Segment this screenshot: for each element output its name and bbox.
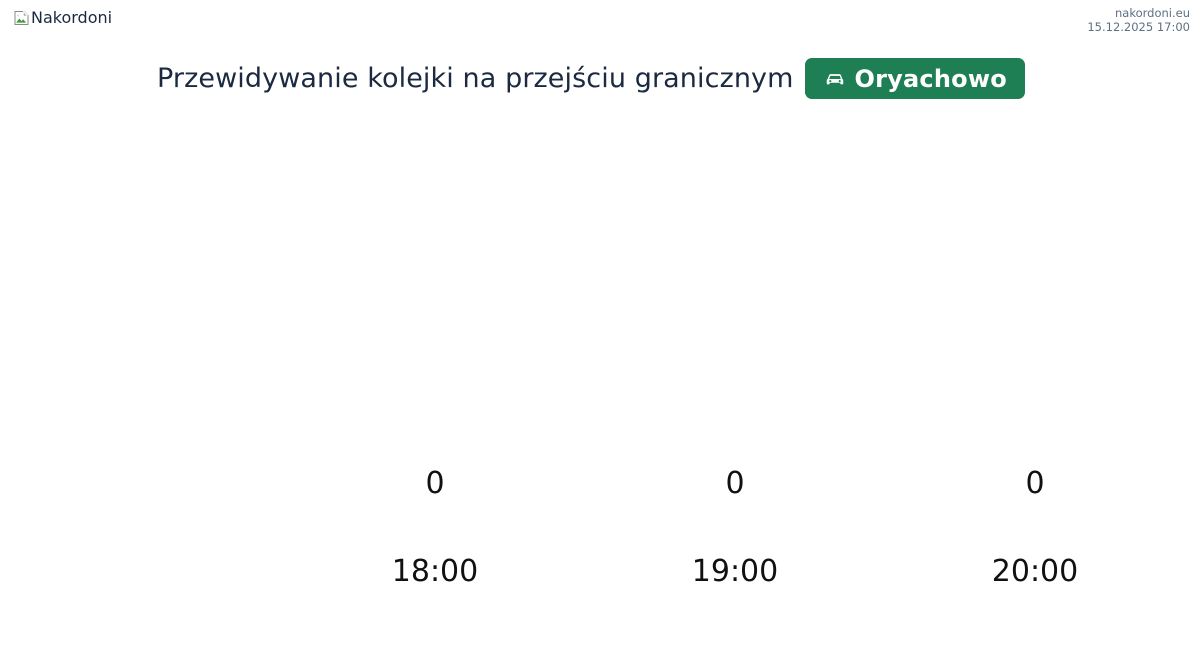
- brand-logo-alt-text: Nakordoni: [31, 9, 112, 27]
- bar-track: [980, 120, 1090, 465]
- bar-value-label: 0: [925, 465, 1145, 503]
- bar-value-label: 0: [625, 465, 845, 503]
- brand-logo[interactable]: Nakordoni: [14, 9, 112, 27]
- chart-labels-row: 0 18:00 0 19:00 0 20:00: [330, 465, 1140, 651]
- queue-forecast-chart: 0 18:00 0 19:00 0 20:00: [0, 120, 1200, 651]
- border-crossing-badge[interactable]: Oryachowo: [805, 58, 1025, 99]
- broken-image-icon: [14, 10, 30, 26]
- border-crossing-name: Oryachowo: [855, 67, 1007, 91]
- bar-track: [380, 120, 490, 465]
- bar-value-label: 0: [325, 465, 545, 503]
- title-row: Przewidywanie kolejki na przejściu grani…: [157, 58, 1025, 99]
- site-domain: nakordoni.eu: [1087, 6, 1190, 20]
- timestamp: 15.12.2025 17:00: [1087, 20, 1190, 34]
- site-meta: nakordoni.eu 15.12.2025 17:00: [1087, 6, 1190, 34]
- car-icon: [823, 67, 847, 91]
- page-title: Przewidywanie kolejki na przejściu grani…: [157, 59, 794, 99]
- x-axis-tick-label: 20:00: [925, 553, 1145, 591]
- chart-plot-area: [330, 120, 1140, 465]
- x-axis-tick-label: 18:00: [325, 553, 545, 591]
- bar-track: [680, 120, 790, 465]
- x-axis-tick-label: 19:00: [625, 553, 845, 591]
